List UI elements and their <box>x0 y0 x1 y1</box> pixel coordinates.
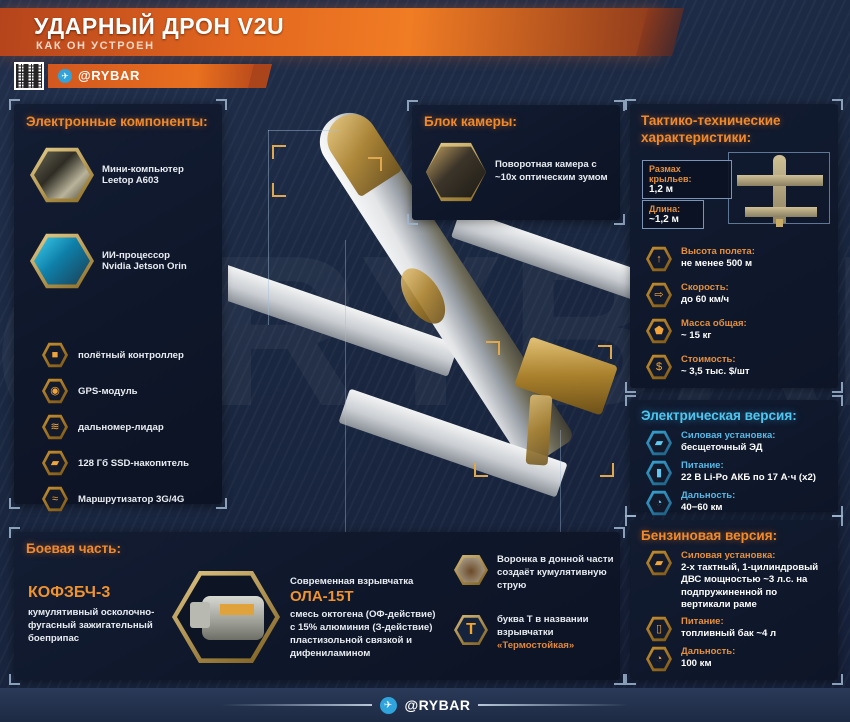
gasoline-row: ◔ Дальность: 100 км <box>646 646 735 672</box>
row-value: 22 В Li-Po АКБ по 17 А·ч (x2) <box>681 472 816 484</box>
warhead-note: Т буква Т в названии взрывчатки «Термост… <box>454 614 614 651</box>
footer-bar: ✈ @RYBAR <box>0 688 850 722</box>
warhead-note: Воронка в донной части создаёт кумулятив… <box>454 554 614 593</box>
spec-label: Масса общая: <box>681 318 747 330</box>
electronics-panel: Электронные компоненты: Мини-компьютер L… <box>14 104 222 504</box>
electronics-title: Электронные компоненты: <box>26 114 208 129</box>
row-value: топливный бак ~4 л <box>681 628 776 640</box>
footer-divider-right <box>478 704 628 706</box>
item-value: Leetop A603 <box>102 175 184 186</box>
telegram-icon: ✈ <box>58 69 72 83</box>
dollar-icon: $ <box>646 354 672 380</box>
item-label: ИИ-процессор <box>102 250 187 261</box>
battery-icon: ▮ <box>646 460 672 486</box>
flight-controller-icon: ■ <box>42 342 68 368</box>
item-label: дальномер-лидар <box>78 422 164 433</box>
spec-label: Стоимость: <box>681 354 750 366</box>
warhead-name: КОФЗБЧ-3 <box>28 584 176 602</box>
explosive-description: смесь октогена (ОФ-действие) с 15% алюми… <box>290 609 442 661</box>
spec-value: не менее 500 м <box>681 258 755 270</box>
row-label: Силовая установка: <box>681 430 775 442</box>
range-icon: ◔ <box>646 490 672 516</box>
spec-value: до 60 км/ч <box>681 294 729 306</box>
note-text: Воронка в донной части создаёт кумулятив… <box>497 554 614 593</box>
length-callout: Длина: ~1,2 м <box>642 200 704 229</box>
row-value: бесщеточный ЭД <box>681 442 775 454</box>
row-label: Дальность: <box>681 646 735 658</box>
warhead-title: Боевая часть: <box>26 541 121 556</box>
row-label: Питание: <box>681 616 776 628</box>
telegram-icon: ✈ <box>380 697 397 714</box>
explosive-intro: Современная взрывчатка <box>290 576 442 587</box>
header-banner: УДАРНЫЙ ДРОН V2U КАК ОН УСТРОЕН <box>0 8 660 56</box>
item-label: 128 Гб SSD-накопитель <box>78 458 189 469</box>
wingspan-callout: Размах крыльев: 1,2 м <box>642 160 732 199</box>
spec-row: ↑ Высота полета: не менее 500 м <box>646 246 755 272</box>
row-label: Силовая установка: <box>681 550 829 562</box>
header-channel-label: @RYBAR <box>78 68 140 83</box>
note-accent: «Термостойкая» <box>497 640 614 651</box>
list-item: ≈ Маршрутизатор 3G/4G <box>42 486 184 512</box>
list-item: ■ полётный контроллер <box>42 342 184 368</box>
tactical-panel: Тактико-технические характеристики: Разм… <box>630 104 838 388</box>
drone-top-view-schematic <box>728 152 830 224</box>
list-item: ИИ-процессор Nvidia Jetson Orin <box>30 232 210 290</box>
item-label: Маршрутизатор 3G/4G <box>78 494 184 505</box>
altitude-arrow-icon: ↑ <box>646 246 672 272</box>
warhead-photo <box>172 568 280 666</box>
item-label: Мини-компьютер <box>102 164 184 175</box>
router-wifi-icon: ≈ <box>42 486 68 512</box>
electric-row: ▰ Силовая установка: бесщеточный ЭД <box>646 430 775 456</box>
camera-module-photo <box>426 141 486 203</box>
range-icon: ◔ <box>646 646 672 672</box>
electric-version-panel: Электрическая версия: ▰ Силовая установк… <box>630 400 838 512</box>
spec-label: Высота полета: <box>681 246 755 258</box>
spec-row: $ Стоимость: ~ 3,5 тыс. $/шт <box>646 354 750 380</box>
spec-label: Скорость: <box>681 282 729 294</box>
shaped-charge-photo <box>454 554 488 586</box>
fuel-tank-icon: ▯ <box>646 616 672 642</box>
row-value: 100 км <box>681 658 735 670</box>
letter-t-icon: Т <box>454 614 488 646</box>
camera-title: Блок камеры: <box>424 114 517 129</box>
list-item: ▰ 128 Гб SSD-накопитель <box>42 450 189 476</box>
camera-item: Поворотная камера с ~10x оптическим зумо… <box>426 141 612 203</box>
footer-divider-left <box>222 704 372 706</box>
electric-row: ◔ Дальность: 40−60 км <box>646 490 735 516</box>
gasoline-title: Бензиновая версия: <box>641 528 777 543</box>
item-label: полётный контроллер <box>78 350 184 361</box>
weight-icon: ⬟ <box>646 318 672 344</box>
callout-label: Длина: <box>649 204 697 214</box>
spec-row: ⬟ Масса общая: ~ 15 кг <box>646 318 747 344</box>
list-item: ◉ GPS-модуль <box>42 378 138 404</box>
camera-text: Поворотная камера с ~10x оптическим зумо… <box>495 159 612 185</box>
gasoline-row: ▯ Питание: топливный бак ~4 л <box>646 616 776 642</box>
spec-value: ~ 3,5 тыс. $/шт <box>681 366 750 378</box>
warhead-panel: Боевая часть: КОФЗБЧ-3 кумулятивный оско… <box>14 532 620 680</box>
gasoline-version-panel: Бензиновая версия: ▰ Силовая установка: … <box>630 520 838 680</box>
explosive-name: ОЛА-15Т <box>290 588 442 605</box>
row-label: Питание: <box>681 460 816 472</box>
header-channel-bar[interactable]: ✈ @RYBAR <box>48 64 260 88</box>
gasoline-row: ▰ Силовая установка: 2-х тактный, 1-цили… <box>646 550 832 612</box>
callout-value: 1,2 м <box>649 184 725 195</box>
item-value: Nvidia Jetson Orin <box>102 261 187 272</box>
callout-label: Размах крыльев: <box>649 164 725 184</box>
infographic-root: @RYBAR УДАРНЫЙ ДРОН V2U КАК ОН УСТРОЕН ✈… <box>0 0 850 722</box>
row-value: 40−60 км <box>681 502 735 514</box>
electric-row: ▮ Питание: 22 В Li-Po АКБ по 17 А·ч (x2) <box>646 460 816 486</box>
speed-icon: ⇨ <box>646 282 672 308</box>
spec-row: ⇨ Скорость: до 60 км/ч <box>646 282 729 308</box>
callout-value: ~1,2 м <box>649 214 697 225</box>
page-subtitle: КАК ОН УСТРОЕН <box>36 40 155 52</box>
electric-title: Электрическая версия: <box>641 408 797 423</box>
ssd-icon: ▰ <box>42 450 68 476</box>
warhead-description: кумулятивный осколочно-фугасный зажигате… <box>28 607 176 646</box>
camera-panel: Блок камеры: Поворотная камера с ~10x оп… <box>412 105 620 220</box>
row-value: 2-х тактный, 1-цилиндровый ДВС мощностью… <box>681 562 829 612</box>
lidar-icon: ≋ <box>42 414 68 440</box>
ai-processor-photo <box>30 232 94 290</box>
page-title: УДАРНЫЙ ДРОН V2U <box>34 13 284 40</box>
row-label: Дальность: <box>681 490 735 502</box>
motor-icon: ▰ <box>646 430 672 456</box>
tactical-title: Тактико-технические характеристики: <box>641 113 831 147</box>
note-text: буква Т в названии взрывчатки <box>497 614 614 640</box>
engine-icon: ▰ <box>646 550 672 576</box>
list-item: Мини-компьютер Leetop A603 <box>30 146 210 204</box>
spec-value: ~ 15 кг <box>681 330 747 342</box>
list-item: ≋ дальномер-лидар <box>42 414 164 440</box>
item-label: GPS-модуль <box>78 386 138 397</box>
gps-icon: ◉ <box>42 378 68 404</box>
qr-code-icon <box>14 62 44 90</box>
mini-computer-photo <box>30 146 94 204</box>
footer-channel-label[interactable]: @RYBAR <box>405 697 471 713</box>
